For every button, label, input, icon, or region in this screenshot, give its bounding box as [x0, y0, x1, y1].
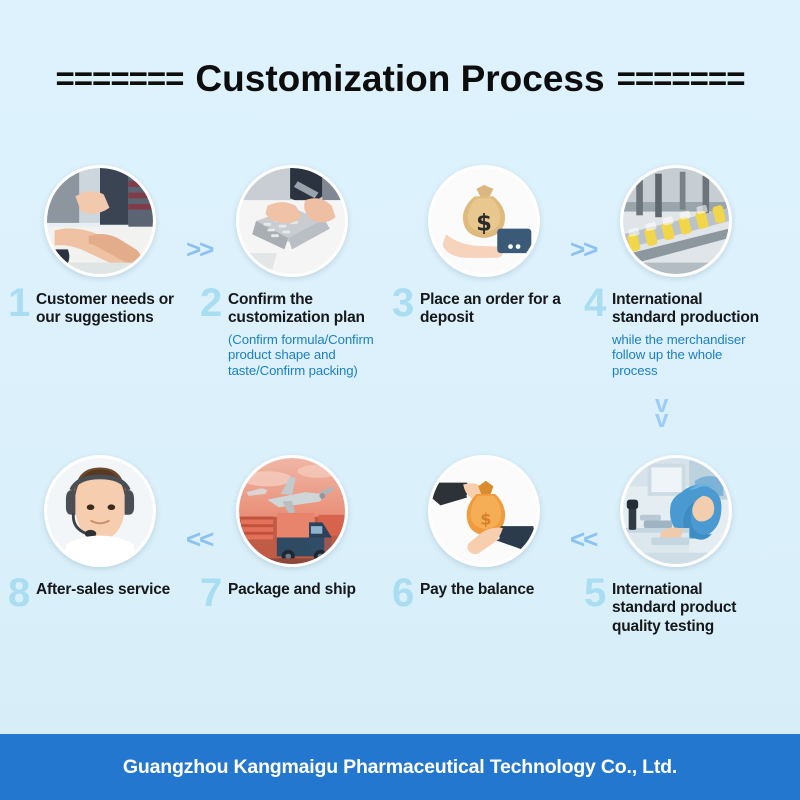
step-2-label: Confirm the customization plan [228, 291, 386, 328]
step-8-image [44, 455, 156, 567]
process-step-4[interactable]: 4 International standard production whil… [584, 160, 774, 378]
svg-text:$: $ [480, 509, 491, 528]
company-name: Guangzhou Kangmaigu Pharmaceutical Techn… [123, 756, 677, 779]
step-1-number: 1 [8, 283, 30, 323]
process-step-3[interactable]: $ 3 Place an order for a deposit >> [392, 160, 582, 328]
step-6-label: Pay the balance [420, 581, 578, 599]
step-5-image [620, 455, 732, 567]
lab-quality-testing-photo [623, 458, 729, 564]
step-3-label: Place an order for a deposit [420, 291, 578, 328]
step-2-caption: 2 Confirm the customization plan (Confir… [200, 291, 390, 378]
handshake-photo [47, 168, 153, 274]
step-7-caption: 7 Package and ship [200, 581, 390, 599]
footer-bar: Guangzhou Kangmaigu Pharmaceutical Techn… [0, 734, 800, 800]
step-3-caption: 3 Place an order for a deposit [392, 291, 582, 328]
process-step-1[interactable]: 1 Customer needs or our suggestions >> [8, 160, 198, 328]
step-3-number: 3 [392, 283, 414, 323]
step-5-caption: 5 International standard product quality… [584, 581, 774, 636]
step-1-caption: 1 Customer needs or our suggestions [8, 291, 198, 328]
infographic-page: =======Customization Process======= [0, 0, 800, 800]
step-2-number: 2 [200, 283, 222, 323]
step-8-label: After-sales service [36, 581, 194, 599]
step-8-number: 8 [8, 573, 30, 613]
chevron-down-2: v [655, 413, 667, 428]
headset-agent-photo [47, 458, 153, 564]
svg-text:$: $ [476, 210, 492, 236]
step-4-caption: 4 International standard production whil… [584, 291, 774, 378]
step-3-image: $ [428, 165, 540, 277]
step-4-label: International standard production [612, 291, 770, 328]
step-2-subtext: (Confirm formula/Confirm product shape a… [228, 332, 386, 379]
step-6-caption: 6 Pay the balance [392, 581, 582, 599]
process-row-bottom: 8 After-sales service << [0, 450, 800, 710]
step-7-image [236, 455, 348, 567]
process-step-7[interactable]: 7 Package and ship << [200, 450, 390, 599]
money-bag-hand-icon: $ [431, 168, 537, 274]
step-7-number: 7 [200, 573, 222, 613]
process-step-6[interactable]: $ 6 Pay the balance << [392, 450, 582, 599]
step-4-number: 4 [584, 283, 606, 323]
laptop-meeting-photo [239, 168, 345, 274]
process-step-8[interactable]: 8 After-sales service << [8, 450, 198, 599]
title-rule-left: ======= [56, 60, 184, 98]
step-6-number: 6 [392, 573, 414, 613]
step-4-image [620, 165, 732, 277]
step-7-label: Package and ship [228, 581, 386, 599]
title-rule-right: ======= [617, 60, 745, 98]
step-2-image [236, 165, 348, 277]
page-title: =======Customization Process======= [0, 58, 800, 100]
bottling-line-photo [623, 168, 729, 274]
money-exchange-hands-icon: $ [431, 458, 537, 564]
process-step-2[interactable]: 2 Confirm the customization plan (Confir… [200, 160, 390, 378]
step-5-label: International standard product quality t… [612, 581, 770, 636]
step-4-subtext: while the merchandiser follow up the who… [612, 332, 770, 379]
step-5-number: 5 [584, 573, 606, 613]
step-8-caption: 8 After-sales service [8, 581, 198, 599]
step-1-image [44, 165, 156, 277]
step-6-image: $ [428, 455, 540, 567]
chevron-down-icon: v v [655, 398, 667, 428]
logistics-plane-truck-photo [239, 458, 345, 564]
step-1-label: Customer needs or our suggestions [36, 291, 194, 328]
process-row-top: 1 Customer needs or our suggestions >> [0, 160, 800, 420]
title-text: Customization Process [183, 58, 616, 100]
process-step-5[interactable]: 5 International standard product quality… [584, 450, 774, 636]
